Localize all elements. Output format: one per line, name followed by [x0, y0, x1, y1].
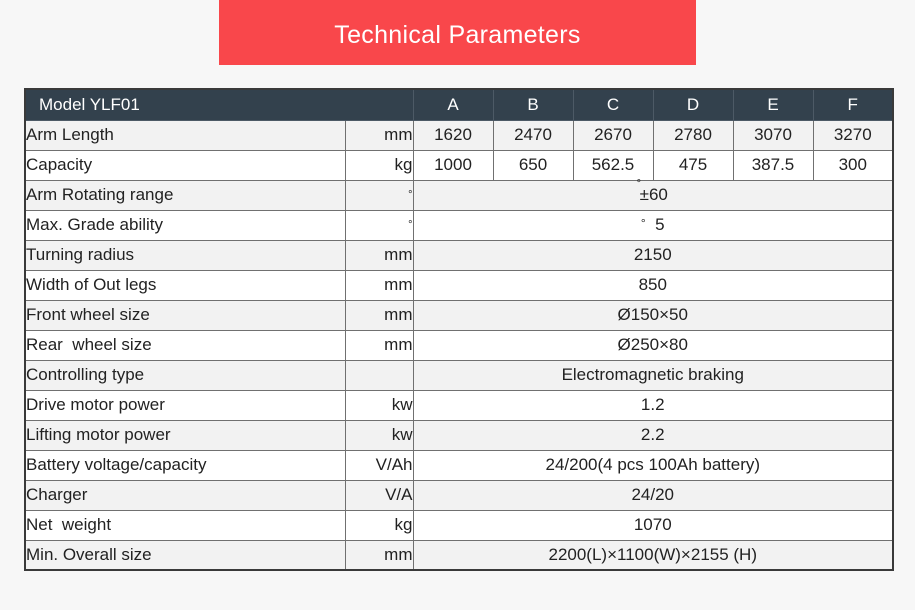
cell-value-merged: Ø150×50 — [413, 300, 893, 330]
row-label: Turning radius — [25, 240, 345, 270]
table-row: Capacitykg1000650562.5475387.5300 — [25, 150, 893, 180]
table-row: Lifting motor powerkw2.2 — [25, 420, 893, 450]
cell-value-merged: 1.2 — [413, 390, 893, 420]
cell-value-merged: 2150 — [413, 240, 893, 270]
table-row: ChargerV/A24/20 — [25, 480, 893, 510]
cell-value: 475 — [653, 150, 733, 180]
table-row: Width of Out legsmm850 — [25, 270, 893, 300]
table-row: Rear wheel sizemmØ250×80 — [25, 330, 893, 360]
row-label: Capacity — [25, 150, 345, 180]
row-label: Drive motor power — [25, 390, 345, 420]
row-unit: kw — [345, 390, 413, 420]
row-unit: kw — [345, 420, 413, 450]
row-label: Charger — [25, 480, 345, 510]
table-row: Arm Lengthmm162024702670278030703270 — [25, 120, 893, 150]
table-header-row: Model YLF01ABCDEF — [25, 89, 893, 120]
header-model-label: Model YLF01 — [25, 89, 413, 120]
row-unit: mm — [345, 540, 413, 570]
row-label: Front wheel size — [25, 300, 345, 330]
row-unit: kg — [345, 150, 413, 180]
plus-minus-degree-value: °±60 — [638, 185, 668, 205]
cell-value-merged: Electromagnetic braking — [413, 360, 893, 390]
table-row: Controlling typeElectromagnetic braking — [25, 360, 893, 390]
technical-parameters-table: Model YLF01ABCDEFArm Lengthmm16202470267… — [24, 88, 894, 571]
cell-value: 562.5 — [573, 150, 653, 180]
cell-value-merged: 24/200(4 pcs 100Ah battery) — [413, 450, 893, 480]
cell-value: 1000 — [413, 150, 493, 180]
cell-value: 387.5 — [733, 150, 813, 180]
cell-value: 300 — [813, 150, 893, 180]
row-label: Battery voltage/capacity — [25, 450, 345, 480]
table-body: Model YLF01ABCDEFArm Lengthmm16202470267… — [25, 89, 893, 570]
cell-value-merged: 2.2 — [413, 420, 893, 450]
row-unit: mm — [345, 120, 413, 150]
row-unit: mm — [345, 300, 413, 330]
column-header-b: B — [493, 89, 573, 120]
table-row: Front wheel sizemmØ150×50 — [25, 300, 893, 330]
column-header-a: A — [413, 89, 493, 120]
degree-symbol-icon: ° — [408, 219, 412, 231]
table-row: Turning radiusmm2150 — [25, 240, 893, 270]
row-unit: V/A — [345, 480, 413, 510]
row-label: Width of Out legs — [25, 270, 345, 300]
row-label: Controlling type — [25, 360, 345, 390]
row-unit: mm — [345, 330, 413, 360]
cell-value-merged: 1070 — [413, 510, 893, 540]
cell-value: 1620 — [413, 120, 493, 150]
cell-value: 3070 — [733, 120, 813, 150]
cell-value: 2780 — [653, 120, 733, 150]
degree-symbol-icon: ° — [637, 178, 641, 190]
row-label: Rear wheel size — [25, 330, 345, 360]
column-header-f: F — [813, 89, 893, 120]
table-row: Net weightkg1070 — [25, 510, 893, 540]
title-banner: Technical Parameters — [219, 0, 696, 65]
row-label: Min. Overall size — [25, 540, 345, 570]
row-unit: ° — [345, 210, 413, 240]
row-unit: mm — [345, 270, 413, 300]
row-label: Net weight — [25, 510, 345, 540]
page-title: Technical Parameters — [334, 17, 580, 48]
table-row: Max. Grade ability°° 5 — [25, 210, 893, 240]
row-label: Arm Length — [25, 120, 345, 150]
column-header-e: E — [733, 89, 813, 120]
row-label: Max. Grade ability — [25, 210, 345, 240]
row-unit: V/Ah — [345, 450, 413, 480]
merged-value-text: 5 — [646, 215, 665, 234]
degree-symbol-icon: ° — [408, 189, 412, 201]
table-row: Min. Overall sizemm2200(L)×1100(W)×2155 … — [25, 540, 893, 570]
row-unit: mm — [345, 240, 413, 270]
row-unit: kg — [345, 510, 413, 540]
table-row: Arm Rotating range°°±60 — [25, 180, 893, 210]
cell-value-merged: 24/20 — [413, 480, 893, 510]
cell-value-merged: 850 — [413, 270, 893, 300]
cell-value-merged: ° 5 — [413, 210, 893, 240]
table-row: Battery voltage/capacityV/Ah24/200(4 pcs… — [25, 450, 893, 480]
technical-parameters-table-container: Model YLF01ABCDEFArm Lengthmm16202470267… — [24, 88, 893, 571]
merged-value-text: ±60 — [640, 185, 668, 204]
row-unit: ° — [345, 180, 413, 210]
column-header-c: C — [573, 89, 653, 120]
cell-value-merged: °±60 — [413, 180, 893, 210]
row-label: Lifting motor power — [25, 420, 345, 450]
column-header-d: D — [653, 89, 733, 120]
cell-value: 3270 — [813, 120, 893, 150]
cell-value-merged: Ø250×80 — [413, 330, 893, 360]
row-label: Arm Rotating range — [25, 180, 345, 210]
cell-value: 650 — [493, 150, 573, 180]
cell-value: 2670 — [573, 120, 653, 150]
row-unit — [345, 360, 413, 390]
cell-value: 2470 — [493, 120, 573, 150]
table-row: Drive motor powerkw1.2 — [25, 390, 893, 420]
cell-value-merged: 2200(L)×1100(W)×2155 (H) — [413, 540, 893, 570]
